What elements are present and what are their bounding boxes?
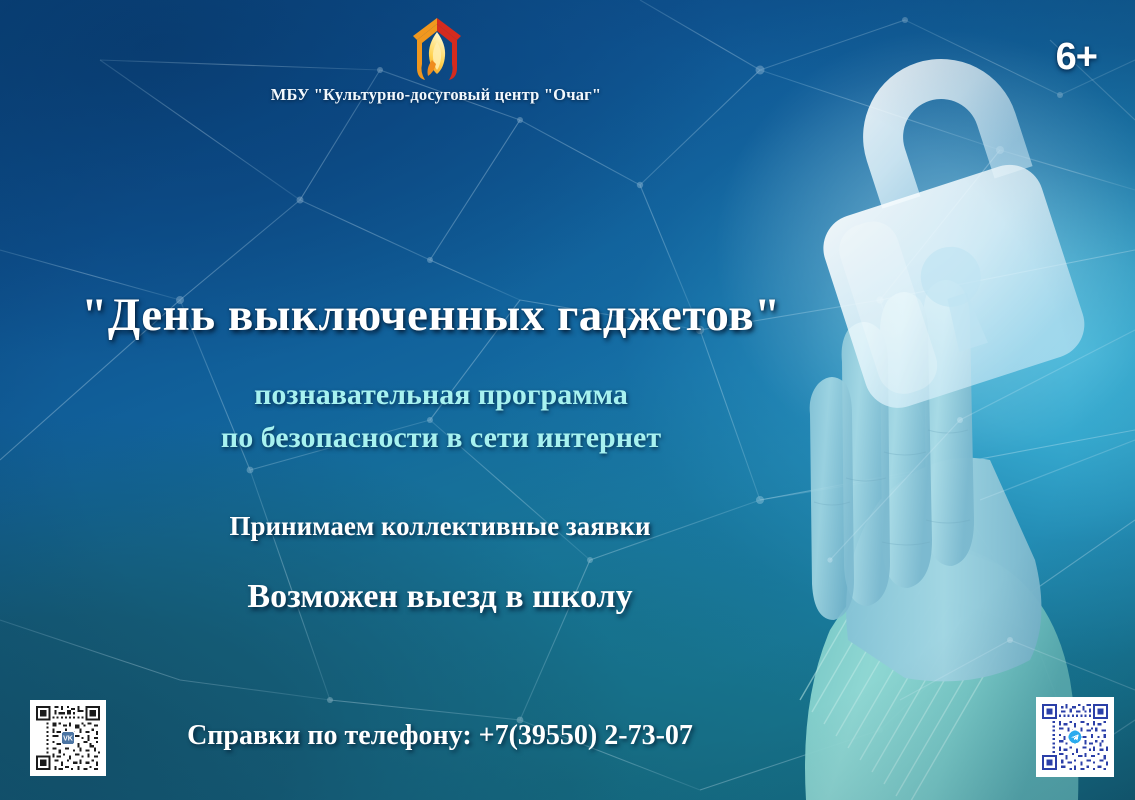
age-rating-badge: 6+ (1056, 36, 1097, 79)
subtitle-line-2: по безопасности в сети интернет (0, 417, 882, 460)
svg-text:VK: VK (63, 735, 73, 742)
page-title: "День выключенных гаджетов" (0, 288, 862, 342)
ochag-hearth-logo-icon (404, 16, 470, 88)
qr-code-telegram[interactable] (1036, 697, 1114, 777)
contact-phone-line: Справки по телефону: +7(39550) 2-73-07 (0, 720, 880, 752)
qr-code-vk-image: VK (34, 704, 102, 772)
subtitle-line-1: познавательная программа (0, 374, 882, 417)
subtitle-block: познавательная программа по безопасности… (0, 374, 882, 459)
qr-code-telegram-image (1040, 701, 1110, 773)
organization-name: МБУ "Культурно-досуговый центр "Очаг" (0, 85, 872, 105)
school-visit-note: Возможен выезд в школу (0, 578, 880, 616)
collective-requests-note: Принимаем коллективные заявки (0, 511, 880, 542)
qr-code-vk[interactable]: VK (30, 700, 106, 776)
poster-canvas: МБУ "Культурно-досуговый центр "Очаг" 6+… (0, 0, 1135, 800)
